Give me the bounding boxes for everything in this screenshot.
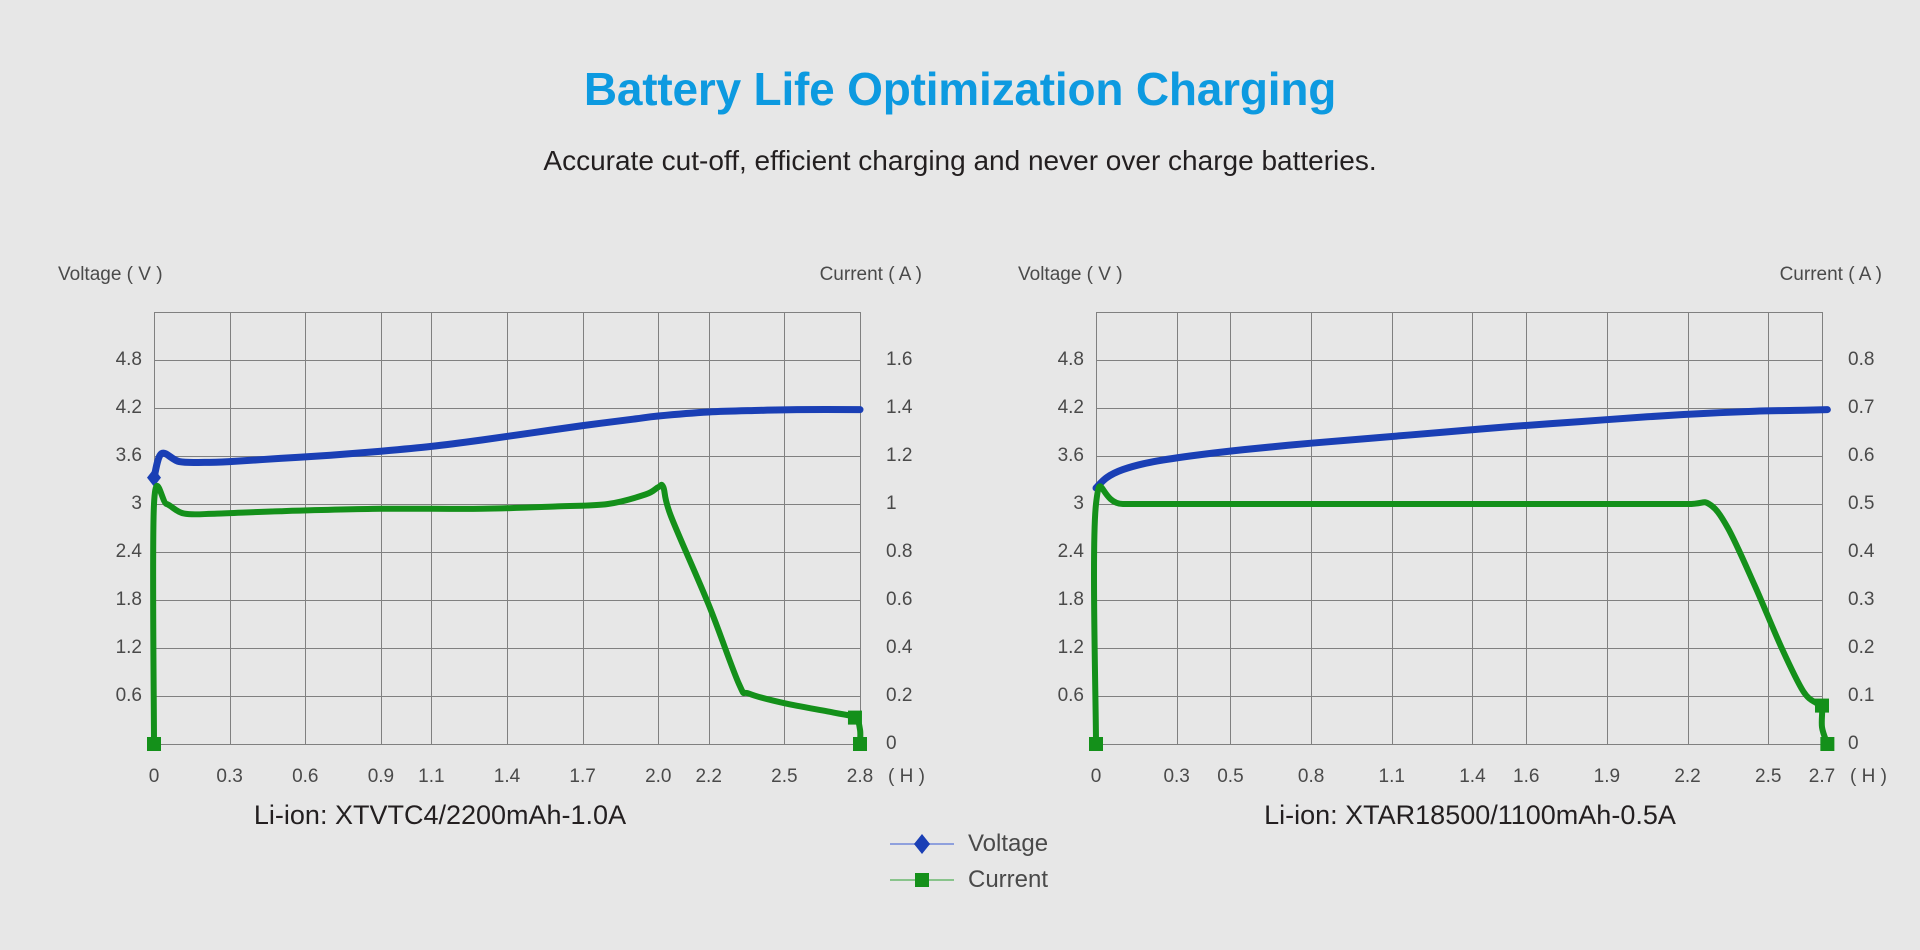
legend-item-voltage: Voltage	[890, 826, 1048, 862]
y-axis-tick-label: 3	[131, 493, 142, 515]
x-axis-tick-label: 0.3	[1163, 766, 1189, 788]
y2-axis-title-left: Current ( A )	[820, 264, 922, 286]
x-axis-tick-label: 0.9	[368, 766, 394, 788]
y-axis-tick-label: 0.6	[116, 685, 142, 707]
x-axis-tick-label: 2.2	[1674, 766, 1700, 788]
y2-axis-tick-label: 0.1	[1848, 685, 1874, 707]
chart-legend: Voltage Current	[890, 826, 1048, 898]
y-axis-tick-label: 2.4	[116, 541, 142, 563]
y2-axis-tick-label: 0.4	[1848, 541, 1874, 563]
chart-caption-left: Li-ion: XTVTC4/2200mAh-1.0A	[0, 800, 920, 831]
chart-panel-left: Voltage ( V ) Current ( A ) 00.30.60.91.…	[0, 0, 960, 950]
x-axis-tick-label: 1.9	[1594, 766, 1620, 788]
chart-panel-right: Voltage ( V ) Current ( A ) 00.30.50.81.…	[960, 0, 1920, 950]
y2-axis-tick-label: 0	[886, 733, 897, 755]
y-axis-tick-label: 1.8	[116, 589, 142, 611]
x-axis-tick-label: 1.1	[1379, 766, 1405, 788]
gridline-vertical	[1822, 312, 1823, 744]
x-axis-tick-label: 1.4	[494, 766, 520, 788]
legend-label-current: Current	[968, 866, 1048, 894]
y-axis-tick-label: 4.2	[1058, 397, 1084, 419]
x-axis-tick-label: 2.7	[1809, 766, 1835, 788]
x-axis-tick-label: 1.1	[418, 766, 444, 788]
x-axis-tick-label: 1.6	[1513, 766, 1539, 788]
data-point-marker-square	[1089, 737, 1103, 751]
y2-axis-tick-label: 0.8	[886, 541, 912, 563]
y-axis-tick-label: 3	[1073, 493, 1084, 515]
x-axis-unit-label: ( H )	[888, 766, 925, 788]
x-axis-tick-label: 0	[1091, 766, 1102, 788]
y2-axis-tick-label: 0.5	[1848, 493, 1874, 515]
x-axis-tick-label: 2.8	[847, 766, 873, 788]
y2-axis-tick-label: 0.7	[1848, 397, 1874, 419]
y2-axis-tick-label: 1.2	[886, 445, 912, 467]
y2-axis-tick-label: 0	[1848, 733, 1859, 755]
chart-caption-right: Li-ion: XTAR18500/1100mAh-0.5A	[990, 800, 1920, 831]
y2-axis-tick-label: 0.2	[1848, 637, 1874, 659]
legend-item-current: Current	[890, 862, 1048, 898]
y2-axis-tick-label: 0.8	[1848, 349, 1874, 371]
y-axis-tick-label: 3.6	[1058, 445, 1084, 467]
y-axis-title-left: Voltage ( V )	[58, 264, 163, 286]
y-axis-tick-label: 0.6	[1058, 685, 1084, 707]
y2-axis-tick-label: 1.4	[886, 397, 912, 419]
y2-axis-tick-label: 1	[886, 493, 897, 515]
x-axis-tick-label: 2.0	[645, 766, 671, 788]
page-root: Battery Life Optimization Charging Accur…	[0, 0, 1920, 950]
x-axis-tick-label: 0.5	[1217, 766, 1243, 788]
legend-label-voltage: Voltage	[968, 830, 1048, 858]
y2-axis-tick-label: 0.6	[1848, 445, 1874, 467]
plot-area-right: 00.30.50.81.11.41.61.92.22.52.7( H )0.80…	[1096, 312, 1822, 744]
x-axis-tick-label: 2.2	[695, 766, 721, 788]
x-axis-tick-label: 2.5	[1755, 766, 1781, 788]
data-point-marker-square	[853, 737, 867, 751]
y-axis-tick-label: 1.2	[1058, 637, 1084, 659]
y-axis-title-right: Voltage ( V )	[1018, 264, 1123, 286]
legend-marker-square-icon	[890, 869, 954, 891]
data-point-marker-square	[1815, 699, 1829, 713]
series-svg-left	[154, 312, 860, 744]
y-axis-tick-label: 4.8	[1058, 349, 1084, 371]
x-axis-tick-label: 0.8	[1298, 766, 1324, 788]
gridline-horizontal	[154, 744, 860, 745]
x-axis-tick-label: 0.6	[292, 766, 318, 788]
y2-axis-tick-label: 0.3	[1848, 589, 1874, 611]
data-point-marker-square	[1820, 737, 1834, 751]
y-axis-tick-label: 4.8	[116, 349, 142, 371]
y2-axis-tick-label: 1.6	[886, 349, 912, 371]
series-line-current	[1094, 486, 1827, 744]
x-axis-tick-label: 1.7	[569, 766, 595, 788]
y2-axis-tick-label: 0.2	[886, 685, 912, 707]
x-axis-tick-label: 1.4	[1459, 766, 1485, 788]
x-axis-unit-label: ( H )	[1850, 766, 1887, 788]
y-axis-tick-label: 2.4	[1058, 541, 1084, 563]
y2-axis-title-right: Current ( A )	[1780, 264, 1882, 286]
y-axis-tick-label: 1.2	[116, 637, 142, 659]
y-axis-tick-label: 3.6	[116, 445, 142, 467]
y2-axis-tick-label: 0.6	[886, 589, 912, 611]
gridline-vertical	[860, 312, 861, 744]
x-axis-tick-label: 0.3	[216, 766, 242, 788]
series-line-voltage	[154, 410, 860, 478]
y2-axis-tick-label: 0.4	[886, 637, 912, 659]
plot-area-left: 00.30.60.91.11.41.72.02.22.52.8( H )1.61…	[154, 312, 860, 744]
y-axis-tick-label: 1.8	[1058, 589, 1084, 611]
series-line-voltage	[1096, 410, 1827, 488]
y-axis-tick-label: 4.2	[116, 397, 142, 419]
gridline-horizontal	[1096, 744, 1822, 745]
series-line-current	[153, 485, 860, 744]
data-point-marker-square	[848, 711, 862, 725]
x-axis-tick-label: 0	[149, 766, 160, 788]
data-point-marker-square	[147, 737, 161, 751]
x-axis-tick-label: 2.5	[771, 766, 797, 788]
legend-marker-diamond-icon	[890, 833, 954, 855]
series-svg-right	[1096, 312, 1822, 744]
